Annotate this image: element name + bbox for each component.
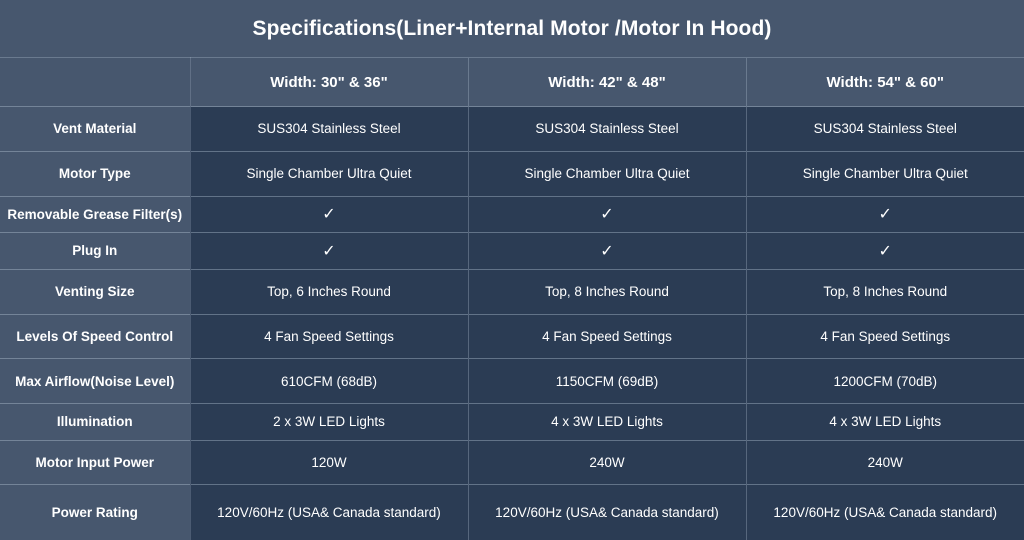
cell-vent-material-col3: SUS304 Stainless Steel <box>746 107 1024 152</box>
table-row: Motor Input Power 120W 240W 240W <box>0 440 1024 485</box>
row-label-illumination: Illumination <box>0 404 190 441</box>
check-icon: ✓ <box>322 244 335 260</box>
table-row: Venting Size Top, 6 Inches Round Top, 8 … <box>0 269 1024 314</box>
cell-plug-in-col1: ✓ <box>190 233 468 270</box>
table-body: Vent Material SUS304 Stainless Steel SUS… <box>0 107 1024 540</box>
cell-venting-size-col3: Top, 8 Inches Round <box>746 269 1024 314</box>
cell-max-airflow-col2: 1150CFM (69dB) <box>468 359 746 404</box>
cell-power-rating-col1: 120V/60Hz (USA& Canada standard) <box>190 485 468 540</box>
table-row: Vent Material SUS304 Stainless Steel SUS… <box>0 107 1024 152</box>
row-label-power-rating: Power Rating <box>0 485 190 540</box>
table-row: Illumination 2 x 3W LED Lights 4 x 3W LE… <box>0 404 1024 441</box>
cell-motor-type-col2: Single Chamber Ultra Quiet <box>468 151 746 196</box>
row-label-removable-grease-filters: Removable Grease Filter(s) <box>0 196 190 233</box>
check-icon: ✓ <box>879 244 892 260</box>
check-icon: ✓ <box>879 207 892 223</box>
row-label-plug-in: Plug In <box>0 233 190 270</box>
row-label-motor-input-power: Motor Input Power <box>0 440 190 485</box>
specifications-table: Width: 30" & 36" Width: 42" & 48" Width:… <box>0 57 1024 540</box>
table-corner-cell <box>0 58 190 107</box>
cell-illumination-col2: 4 x 3W LED Lights <box>468 404 746 441</box>
table-row: Max Airflow(Noise Level) 610CFM (68dB) 1… <box>0 359 1024 404</box>
column-header-width-42-48: Width: 42" & 48" <box>468 58 746 107</box>
cell-illumination-col3: 4 x 3W LED Lights <box>746 404 1024 441</box>
row-label-venting-size: Venting Size <box>0 269 190 314</box>
cell-power-rating-col3: 120V/60Hz (USA& Canada standard) <box>746 485 1024 540</box>
cell-max-airflow-col1: 610CFM (68dB) <box>190 359 468 404</box>
page-title: Specifications(Liner+Internal Motor /Mot… <box>252 17 771 41</box>
table-header-row: Width: 30" & 36" Width: 42" & 48" Width:… <box>0 58 1024 107</box>
cell-removable-grease-filters-col3: ✓ <box>746 196 1024 233</box>
row-label-vent-material: Vent Material <box>0 107 190 152</box>
cell-venting-size-col2: Top, 8 Inches Round <box>468 269 746 314</box>
cell-max-airflow-col3: 1200CFM (70dB) <box>746 359 1024 404</box>
cell-removable-grease-filters-col1: ✓ <box>190 196 468 233</box>
cell-levels-of-speed-control-col3: 4 Fan Speed Settings <box>746 314 1024 359</box>
table-row: Removable Grease Filter(s) ✓ ✓ ✓ <box>0 196 1024 233</box>
check-icon: ✓ <box>600 244 613 260</box>
cell-plug-in-col3: ✓ <box>746 233 1024 270</box>
row-label-max-airflow-noise-level: Max Airflow(Noise Level) <box>0 359 190 404</box>
cell-vent-material-col1: SUS304 Stainless Steel <box>190 107 468 152</box>
cell-motor-input-power-col3: 240W <box>746 440 1024 485</box>
cell-illumination-col1: 2 x 3W LED Lights <box>190 404 468 441</box>
cell-levels-of-speed-control-col2: 4 Fan Speed Settings <box>468 314 746 359</box>
row-label-levels-of-speed-control: Levels Of Speed Control <box>0 314 190 359</box>
cell-motor-type-col1: Single Chamber Ultra Quiet <box>190 151 468 196</box>
cell-motor-input-power-col1: 120W <box>190 440 468 485</box>
cell-motor-type-col3: Single Chamber Ultra Quiet <box>746 151 1024 196</box>
column-header-width-30-36: Width: 30" & 36" <box>190 58 468 107</box>
cell-venting-size-col1: Top, 6 Inches Round <box>190 269 468 314</box>
specifications-sheet: Specifications(Liner+Internal Motor /Mot… <box>0 0 1024 540</box>
check-icon: ✓ <box>600 207 613 223</box>
cell-vent-material-col2: SUS304 Stainless Steel <box>468 107 746 152</box>
cell-power-rating-col2: 120V/60Hz (USA& Canada standard) <box>468 485 746 540</box>
row-label-motor-type: Motor Type <box>0 151 190 196</box>
check-icon: ✓ <box>322 207 335 223</box>
table-header: Width: 30" & 36" Width: 42" & 48" Width:… <box>0 58 1024 107</box>
column-header-width-54-60: Width: 54" & 60" <box>746 58 1024 107</box>
title-bar: Specifications(Liner+Internal Motor /Mot… <box>0 0 1024 57</box>
table-row: Plug In ✓ ✓ ✓ <box>0 233 1024 270</box>
table-row: Motor Type Single Chamber Ultra Quiet Si… <box>0 151 1024 196</box>
cell-motor-input-power-col2: 240W <box>468 440 746 485</box>
cell-levels-of-speed-control-col1: 4 Fan Speed Settings <box>190 314 468 359</box>
table-row: Levels Of Speed Control 4 Fan Speed Sett… <box>0 314 1024 359</box>
cell-plug-in-col2: ✓ <box>468 233 746 270</box>
cell-removable-grease-filters-col2: ✓ <box>468 196 746 233</box>
table-row: Power Rating 120V/60Hz (USA& Canada stan… <box>0 485 1024 540</box>
